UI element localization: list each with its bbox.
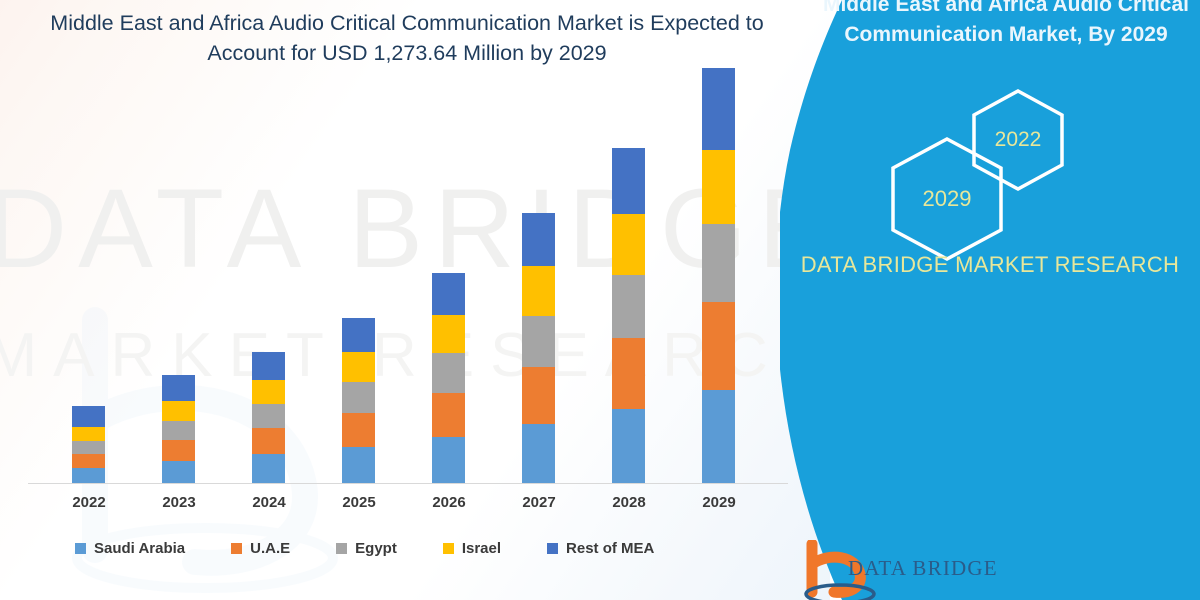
x-axis-label-2024: 2024 [239, 494, 299, 511]
bar-segment-rest-of-mea [432, 273, 465, 315]
legend-swatch-icon [547, 543, 558, 554]
legend-item-saudi-arabia[interactable]: Saudi Arabia [75, 540, 185, 557]
legend-item-egypt[interactable]: Egypt [336, 540, 397, 557]
legend-swatch-icon [336, 543, 347, 554]
bar-segment-saudi-arabia [612, 409, 645, 483]
bar-segment-rest-of-mea [612, 148, 645, 214]
chart-plot-area: 20222023202420252026202720282029 [0, 0, 830, 600]
bar-segment-israel [162, 401, 195, 421]
x-axis-label-2022: 2022 [59, 494, 119, 511]
bar-segment-egypt [162, 421, 195, 440]
bar-segment-rest-of-mea [252, 352, 285, 380]
bar-segment-u-a-e [702, 302, 735, 390]
bar-segment-israel [432, 315, 465, 353]
bar-segment-u-a-e [522, 367, 555, 424]
bar-segment-rest-of-mea [162, 375, 195, 401]
x-axis-label-2027: 2027 [509, 494, 569, 511]
bar-segment-u-a-e [162, 440, 195, 461]
x-axis-label-2028: 2028 [599, 494, 659, 511]
bar-segment-saudi-arabia [342, 447, 375, 483]
chart-panel: DATA BRIDGE MARKET RESEARCH Middle East … [0, 0, 830, 600]
bar-segment-egypt [522, 316, 555, 367]
bar-2023 [162, 375, 195, 483]
bar-segment-egypt [72, 441, 105, 454]
bar-segment-saudi-arabia [702, 390, 735, 483]
bar-2026 [432, 273, 465, 483]
bar-segment-u-a-e [342, 413, 375, 447]
bar-segment-israel [342, 352, 375, 382]
bar-segment-israel [252, 380, 285, 404]
brand-company-name: DATA BRIDGE MARKET RESEARCH [800, 250, 1180, 280]
x-axis-label-2025: 2025 [329, 494, 389, 511]
footer-logo-text: DATA BRIDGE [848, 556, 998, 581]
x-axis-label-2026: 2026 [419, 494, 479, 511]
hexagon-badge-2022-label: 2022 [995, 128, 1042, 152]
footer-logo: DATA BRIDGE [800, 540, 1100, 600]
chart-legend: Saudi ArabiaU.A.EEgyptIsraelRest of MEA [75, 540, 775, 557]
bar-segment-saudi-arabia [432, 437, 465, 483]
bar-segment-saudi-arabia [522, 424, 555, 483]
bar-2028 [612, 148, 645, 483]
bar-segment-saudi-arabia [252, 454, 285, 483]
bar-segment-saudi-arabia [72, 468, 105, 483]
legend-swatch-icon [443, 543, 454, 554]
bar-2025 [342, 318, 375, 483]
legend-label: Egypt [355, 540, 397, 557]
bar-segment-rest-of-mea [702, 68, 735, 150]
bar-2027 [522, 213, 555, 483]
bar-segment-egypt [252, 404, 285, 428]
x-axis-label-2029: 2029 [689, 494, 749, 511]
bar-2024 [252, 352, 285, 483]
legend-label: Saudi Arabia [94, 540, 185, 557]
legend-item-u-a-e[interactable]: U.A.E [231, 540, 290, 557]
bar-segment-egypt [702, 224, 735, 302]
hexagon-badge-2029-label: 2029 [923, 186, 972, 212]
bar-segment-israel [522, 266, 555, 316]
bar-segment-israel [72, 427, 105, 441]
brand-panel-title: Middle East and Africa Audio Critical Co… [820, 0, 1192, 50]
bar-segment-egypt [432, 353, 465, 393]
legend-label: Rest of MEA [566, 540, 654, 557]
legend-item-rest-of-mea[interactable]: Rest of MEA [547, 540, 654, 557]
legend-swatch-icon [231, 543, 242, 554]
bar-segment-saudi-arabia [162, 461, 195, 483]
bar-2022 [72, 406, 105, 483]
legend-item-israel[interactable]: Israel [443, 540, 501, 557]
x-axis-label-2023: 2023 [149, 494, 209, 511]
bar-segment-rest-of-mea [342, 318, 375, 352]
bar-segment-u-a-e [72, 454, 105, 468]
bar-segment-israel [612, 214, 645, 275]
bar-segment-u-a-e [432, 393, 465, 437]
bar-segment-egypt [612, 275, 645, 338]
legend-swatch-icon [75, 543, 86, 554]
bar-segment-u-a-e [252, 428, 285, 454]
bar-segment-u-a-e [612, 338, 645, 409]
hexagon-badge-2022: 2022 [970, 88, 1066, 192]
bar-segment-rest-of-mea [72, 406, 105, 427]
brand-panel: Middle East and Africa Audio Critical Co… [780, 0, 1200, 600]
bar-segment-rest-of-mea [522, 213, 555, 266]
bar-2029 [702, 68, 735, 483]
x-axis-line [28, 483, 788, 484]
legend-label: Israel [462, 540, 501, 557]
bar-segment-egypt [342, 382, 375, 413]
bar-segment-israel [702, 150, 735, 224]
legend-label: U.A.E [250, 540, 290, 557]
